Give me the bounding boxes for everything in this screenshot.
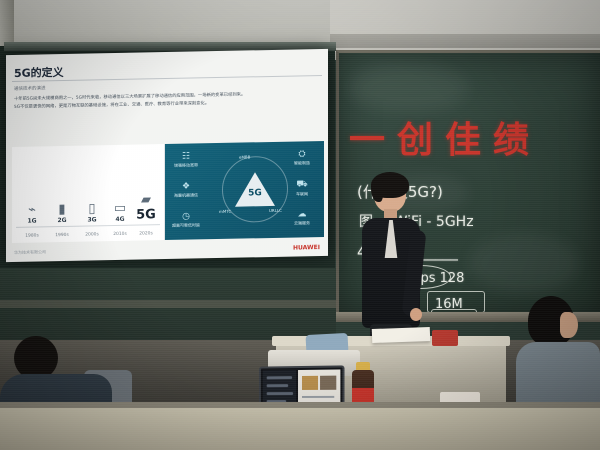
timeline-item-4g: ▭ 4G — [106, 190, 134, 224]
panel-feature-2: ❖ 海量机器通信 — [169, 181, 203, 199]
devices-icon: ❖ — [169, 181, 203, 192]
ceiling-strip — [330, 34, 600, 48]
triangle-corner-mmtc: mMTC — [219, 209, 231, 214]
red-box — [432, 330, 458, 346]
triangle-corner-urllc: URLLC — [269, 208, 282, 213]
tablet-icon: ▭ — [106, 190, 134, 217]
triangle-shape: 5G — [235, 172, 275, 207]
chalk-smudge — [349, 63, 469, 113]
presentation-slide: 5G的定义 通信技术的演进 十年前5G尚未大规模商用之一，5G时代来临，移动通信… — [6, 49, 328, 262]
panel-feature-1: ☷ 增强移动宽带 — [169, 151, 203, 169]
panel-feature-label: 增强移动宽带 — [174, 162, 198, 167]
huawei-logo: HUAWEI — [293, 244, 320, 252]
vehicle-icon: ⛟ — [285, 179, 319, 191]
wall-trim-strip — [0, 300, 336, 308]
timeline-label: 3G — [78, 216, 106, 224]
timeline-year: 2000s — [78, 232, 106, 238]
timeline-item-3g: ▯ 3G — [78, 190, 106, 224]
slide-footer-text: 华为技术有限公司 — [14, 249, 46, 256]
timeline-label: 1G — [18, 217, 46, 225]
factory-icon: ⛭ — [285, 149, 319, 160]
broadband-icon: ☷ — [169, 151, 203, 162]
panel-feature-6: ☁ 云端服务 — [285, 209, 319, 227]
panel-feature-label: 超高可靠低时延 — [172, 222, 200, 228]
laptop-thumbnail — [320, 376, 336, 390]
panel-feature-label: 智能制造 — [294, 160, 310, 165]
foreground-desk — [0, 408, 600, 450]
laptop-ui-line — [267, 384, 288, 387]
slide-title: 5G的定义 — [14, 64, 64, 81]
laptop-ui-line — [267, 376, 292, 379]
laptop-thumbnail — [302, 376, 318, 390]
blackboard-red-headline: 一创佳绩 — [349, 111, 599, 163]
timeline-label: 4G — [106, 216, 134, 224]
cloud-icon: ☁ — [285, 209, 319, 220]
chalk-smudge — [469, 233, 579, 293]
timeline-item-5g: ▰ 5G — [132, 181, 160, 223]
slide-timeline: ⌁ 1G 1980s ▮ 2G 1990s ▯ 3G 2000s ▭ 4G — [12, 144, 165, 243]
panel-feature-5: ⛟ 车联网 — [285, 179, 319, 198]
timeline-year: 1980s — [18, 233, 46, 239]
smartphone-icon: ▯ — [78, 190, 106, 217]
timeline-axis — [16, 224, 160, 228]
classroom-photo: 一创佳绩 (什么是5G?) 图 = WiFi - 5GHz 4G _______… — [0, 0, 600, 450]
timeline-item-2g: ▮ 2G — [48, 191, 76, 225]
panel-feature-label: 海量机器通信 — [174, 192, 198, 197]
presenter-hair-side — [371, 180, 383, 202]
timeline-label: 5G — [132, 207, 160, 223]
panel-feature-label: 云端服务 — [294, 220, 310, 225]
triangle-center-label: 5G — [247, 188, 263, 198]
panel-feature-3: ◷ 超高可靠低时延 — [169, 211, 203, 229]
paper-stack — [372, 327, 430, 343]
slide-subtitle: 通信技术的演进 — [14, 85, 46, 92]
student-face — [560, 312, 578, 338]
timeline-label: 2G — [48, 217, 76, 225]
feature-phone-icon: ▮ — [48, 191, 76, 218]
laptop-text-line — [302, 396, 334, 398]
presenter-hand — [410, 308, 422, 321]
car-icon: ▰ — [132, 181, 160, 208]
timeline-item-1g: ⌁ 1G — [18, 191, 46, 225]
laptop-ui-line — [267, 392, 293, 395]
antenna-icon: ⌁ — [18, 191, 46, 218]
triangle-corner-embb: eMBB — [239, 154, 250, 159]
latency-icon: ◷ — [169, 211, 203, 222]
timeline-year: 2010s — [106, 232, 134, 238]
timeline-year: 1990s — [48, 233, 76, 239]
panel-feature-4: ⛭ 智能制造 — [285, 149, 319, 167]
timeline-year: 2020s — [132, 231, 160, 237]
panel-feature-label: 车联网 — [296, 191, 308, 196]
slide-feature-panel: 5G eMBB mMTC URLLC ☷ 增强移动宽带 ❖ 海量机器通信 ◷ 超… — [165, 141, 324, 240]
